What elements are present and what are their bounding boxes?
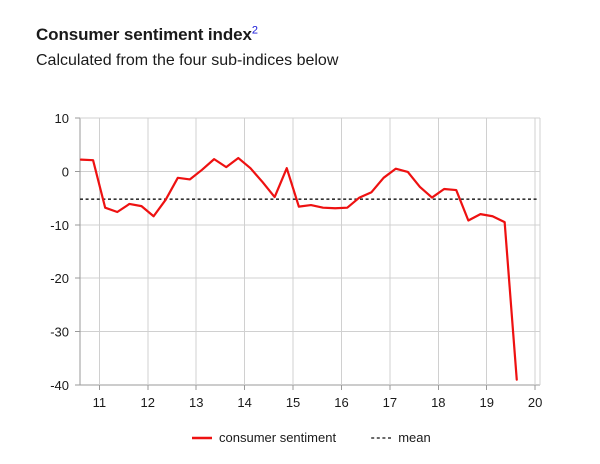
x-tick-label: 19 — [480, 395, 494, 410]
y-tick-label: -20 — [50, 271, 69, 286]
chart-figure: Consumer sentiment index2 Calculated fro… — [0, 0, 600, 464]
x-tick-label: 18 — [431, 395, 445, 410]
chart-legend: consumer sentimentmean — [192, 430, 431, 445]
y-tick-label: -10 — [50, 218, 69, 233]
x-tick-label: 17 — [383, 395, 397, 410]
legend-item: mean — [371, 430, 431, 445]
x-tick-label: 15 — [286, 395, 300, 410]
x-tick-label: 20 — [528, 395, 542, 410]
x-tick-label: 11 — [93, 395, 107, 410]
legend-item: consumer sentiment — [192, 430, 336, 445]
y-tick-label: 10 — [55, 111, 69, 126]
line-chart-plot: 100-10-20-30-40 11121314151617181920 con… — [0, 0, 600, 464]
legend-label: mean — [398, 430, 431, 445]
x-axis-tick-labels: 11121314151617181920 — [93, 395, 543, 410]
x-tick-label: 13 — [189, 395, 203, 410]
x-tick-label: 14 — [237, 395, 251, 410]
y-axis-tick-labels: 100-10-20-30-40 — [50, 111, 69, 393]
x-tick-label: 12 — [141, 395, 155, 410]
y-tick-label: -40 — [50, 378, 69, 393]
x-tick-label: 16 — [334, 395, 348, 410]
gridlines-group — [80, 118, 540, 385]
consumer-sentiment-line — [81, 158, 517, 380]
y-tick-label: 0 — [62, 164, 69, 179]
tickmarks-group — [75, 118, 535, 390]
legend-label: consumer sentiment — [219, 430, 336, 445]
y-tick-label: -30 — [50, 325, 69, 340]
